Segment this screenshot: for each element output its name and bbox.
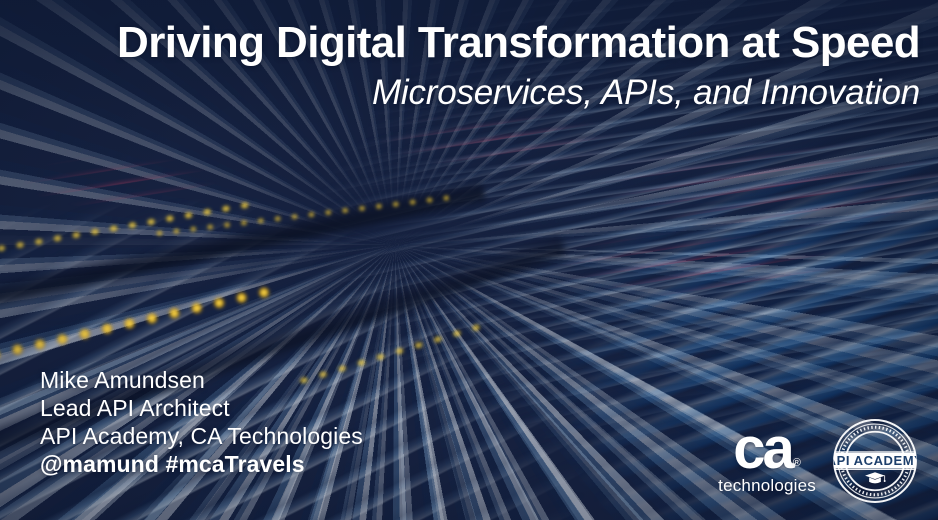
presentation-slide: Driving Digital Transformation at Speed … [0,0,938,520]
ca-wordmark: ca ® [733,423,801,475]
ca-technologies-subtext: technologies [718,476,816,496]
api-academy-banner-text: API ACADEMY [830,453,920,468]
presenter-name: Mike Amundsen [40,366,363,394]
registered-trademark-icon: ® [793,458,801,469]
slide-title: Driving Digital Transformation at Speed [18,18,920,68]
presenter-role: Lead API Architect [40,394,363,422]
presenter-organization: API Academy, CA Technologies [40,422,363,450]
presenter-social-handle: @mamund #mcaTravels [40,450,363,478]
slide-subtitle: Microservices, APIs, and Innovation [18,72,920,114]
ca-wordmark-text: ca [733,423,792,475]
ca-technologies-logo: ca ® technologies [718,423,816,500]
title-block: Driving Digital Transformation at Speed … [0,18,938,114]
logo-row: ca ® technologies [718,416,920,506]
api-academy-badge-logo: API ACADEMY [830,416,920,506]
presenter-info: Mike Amundsen Lead API Architect API Aca… [40,366,363,478]
graduation-cap-icon [865,472,886,483]
